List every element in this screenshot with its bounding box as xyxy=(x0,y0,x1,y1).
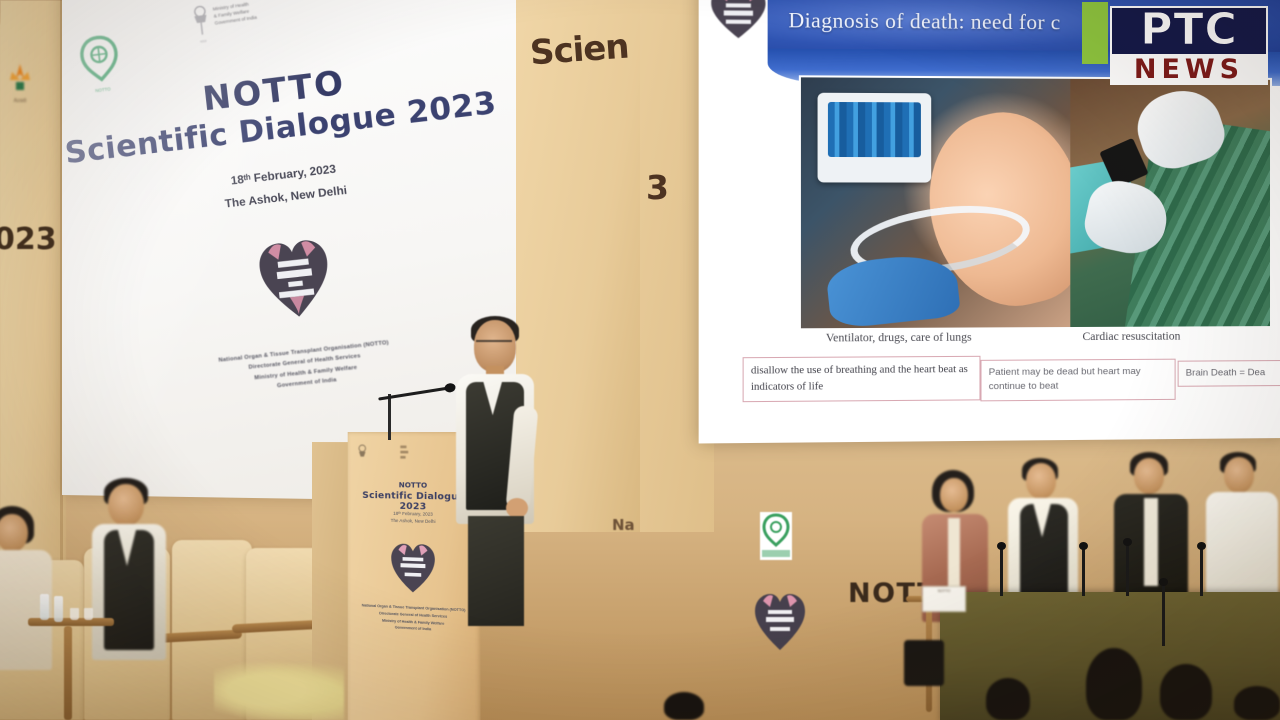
backdrop-national-fragment: Na xyxy=(612,516,635,534)
podium-microphone-stem xyxy=(388,394,391,440)
backdrop-heart-logo-icon xyxy=(752,588,808,652)
slide-corner-heart-logo-icon xyxy=(707,0,770,42)
audience-head-2 xyxy=(1086,648,1142,720)
speaker-hand xyxy=(506,498,528,518)
cardiac-resuscitation-photo xyxy=(1070,79,1270,327)
screenshot-stage: Azadi 023 NOTTO भारत xyxy=(0,0,1280,720)
podium-heart-logo-icon xyxy=(389,538,437,595)
water-glass-1 xyxy=(70,608,79,620)
podium-emblem-icon xyxy=(356,442,369,464)
audience-head-1 xyxy=(986,678,1030,720)
speaker-glasses-icon xyxy=(476,340,512,350)
backdrop-year-fragment: 3 xyxy=(646,168,669,207)
panel-microphone-5 xyxy=(1162,584,1165,646)
caption-cardiac-resuscitation: Cardiac resuscitation xyxy=(1082,331,1180,344)
backdrop-year-fragment-left: 023 xyxy=(0,222,57,257)
backdrop-panel-center: Scien xyxy=(516,0,640,532)
government-of-india-emblem-icon: भारत xyxy=(188,1,215,46)
podium-ministry-logo-icon xyxy=(399,442,422,463)
audience-head-5 xyxy=(664,692,704,720)
slide-textbox-indicators-of-life: disallow the use of breathing and the he… xyxy=(743,356,981,402)
caption-ventilator: Ventilator, drugs, care of lungs xyxy=(826,332,972,345)
podium-logo-row xyxy=(356,442,472,465)
patient-monitor-device xyxy=(817,92,931,182)
ptc-news-text: NEWS xyxy=(1134,54,1244,85)
podium-footer-organisation: National Organ & Tissue Transplant Organ… xyxy=(356,602,472,636)
floral-decor xyxy=(214,660,344,720)
svg-text:Azadi: Azadi xyxy=(14,98,27,104)
slide-photo-group xyxy=(799,75,1272,330)
panelist-head xyxy=(1224,457,1254,493)
slide-textbox-heart-may-beat: Patient may be dead but heart may contin… xyxy=(980,359,1175,401)
panelist-head xyxy=(940,478,968,512)
monitor-screen xyxy=(828,102,921,158)
panel-microphone-3 xyxy=(1126,544,1129,596)
ptc-brand-text: PTC xyxy=(1140,4,1238,55)
ptc-logo-top: PTC xyxy=(1110,6,1268,56)
panelist-head xyxy=(1134,458,1164,494)
water-bottle-1 xyxy=(40,594,49,620)
ptc-green-accent xyxy=(1082,2,1108,64)
panel-microphone-1 xyxy=(1000,548,1003,596)
slide-textbox-brain-death: Brain Death = Dea xyxy=(1178,360,1280,387)
backdrop-scientific-fragment: Scien xyxy=(529,27,630,74)
nameplate-text: NOTTO xyxy=(923,587,965,594)
nameplate-panel: NOTTO xyxy=(922,586,966,612)
person-head xyxy=(108,484,144,526)
backdrop-organ-donation-logo-icon xyxy=(760,512,792,560)
audience-head-3 xyxy=(1160,664,1212,720)
panel-microphone-4 xyxy=(1200,548,1203,596)
ventilator-patient-photo xyxy=(801,77,1070,328)
audience-head-4 xyxy=(1234,686,1280,720)
amrit-mahotsav-logo-icon: Azadi xyxy=(2,58,38,110)
ptc-news-watermark: PTC NEWS xyxy=(1110,6,1268,85)
ministry-header-text: Ministry of Health & Family Welfare Gove… xyxy=(212,0,302,27)
camera-equipment xyxy=(904,640,944,686)
panelist-shirt-front xyxy=(1144,498,1158,586)
saving-lives-heart-logo-icon xyxy=(252,230,337,323)
panel-microphone-2 xyxy=(1082,548,1085,596)
svg-text:भारत: भारत xyxy=(200,39,207,44)
water-bottle-2 xyxy=(54,596,63,622)
speaker-trousers xyxy=(468,516,524,626)
ptc-logo-bottom: NEWS xyxy=(1110,55,1268,85)
panelist-head xyxy=(1026,463,1056,499)
side-table-leg xyxy=(64,626,72,720)
water-glass-2 xyxy=(84,608,93,620)
